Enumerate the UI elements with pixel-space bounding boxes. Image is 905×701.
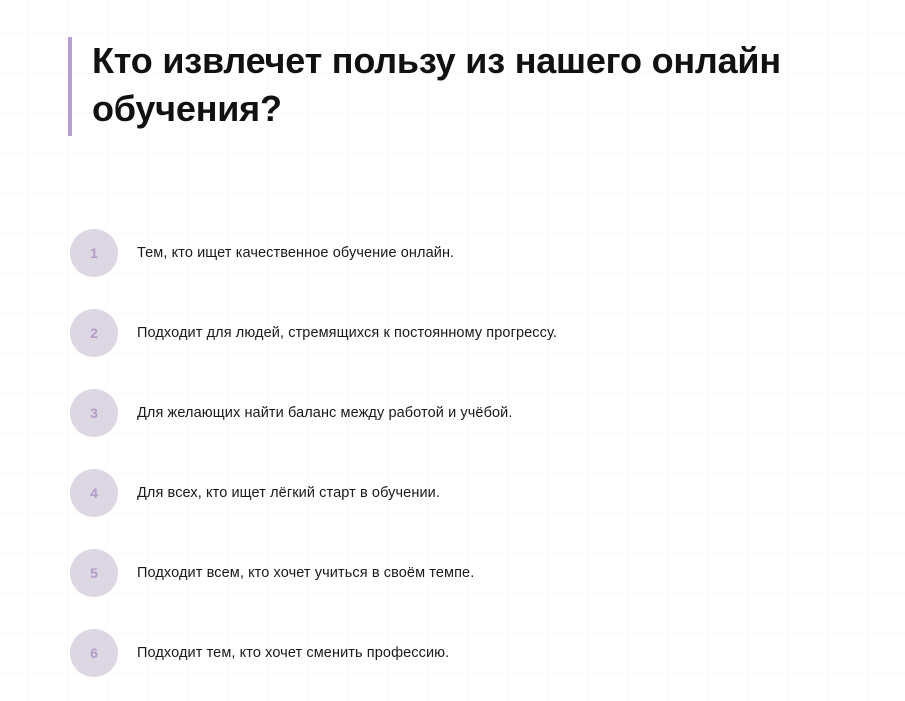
- slide-title-block: Кто извлечет пользу из нашего онлайн обу…: [68, 37, 858, 136]
- benefits-list: 1 Тем, кто ищет качественное обучение он…: [70, 229, 850, 677]
- list-item: 6 Подходит тем, кто хочет сменить профес…: [70, 629, 850, 677]
- list-item-label: Подходит всем, кто хочет учиться в своём…: [118, 563, 474, 583]
- list-item-label: Тем, кто ищет качественное обучение онла…: [118, 243, 454, 263]
- list-item-number-badge: 1: [70, 229, 118, 277]
- slide-canvas: Кто извлечет пользу из нашего онлайн обу…: [0, 0, 905, 701]
- list-item-label: Подходит для людей, стремящихся к постоя…: [118, 323, 557, 343]
- list-item-number-badge: 2: [70, 309, 118, 357]
- page-title: Кто извлечет пользу из нашего онлайн обу…: [72, 37, 844, 136]
- list-item-label: Для желающих найти баланс между работой …: [118, 403, 513, 423]
- list-item-number-badge: 4: [70, 469, 118, 517]
- list-item: 4 Для всех, кто ищет лёгкий старт в обуч…: [70, 469, 850, 517]
- list-item-number-badge: 3: [70, 389, 118, 437]
- list-item: 5 Подходит всем, кто хочет учиться в сво…: [70, 549, 850, 597]
- list-item-number-badge: 5: [70, 549, 118, 597]
- list-item-number-badge: 6: [70, 629, 118, 677]
- list-item: 2 Подходит для людей, стремящихся к пост…: [70, 309, 850, 357]
- list-item: 1 Тем, кто ищет качественное обучение он…: [70, 229, 850, 277]
- list-item-label: Для всех, кто ищет лёгкий старт в обучен…: [118, 483, 440, 503]
- list-item: 3 Для желающих найти баланс между работо…: [70, 389, 850, 437]
- list-item-label: Подходит тем, кто хочет сменить професси…: [118, 643, 449, 663]
